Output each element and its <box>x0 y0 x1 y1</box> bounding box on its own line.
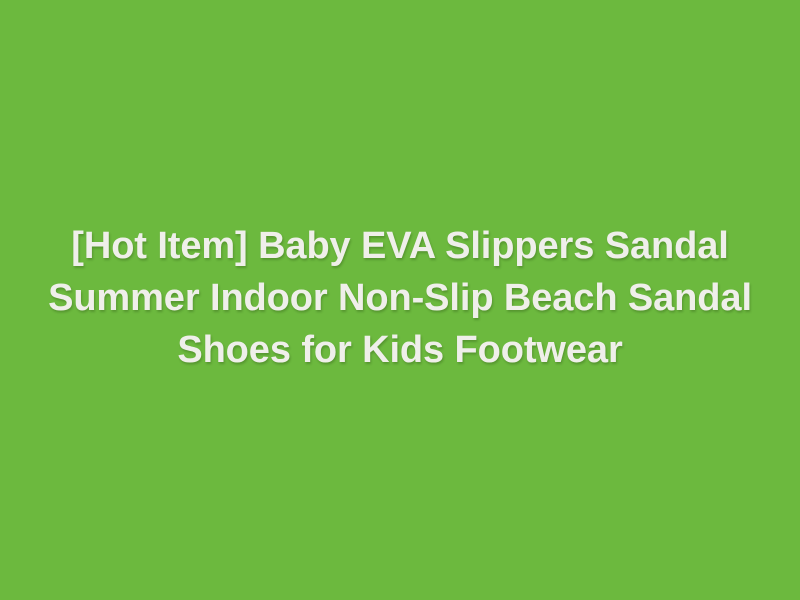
page-title-line-3: Shoes for Kids Footwear <box>20 324 780 376</box>
page-title: [Hot Item] Baby EVA Slippers Sandal Summ… <box>20 220 780 380</box>
page-title-line-2: Summer Indoor Non-Slip Beach Sandal <box>20 272 780 324</box>
product-title-card: [Hot Item] Baby EVA Slippers Sandal Summ… <box>0 0 800 600</box>
page-title-line-1: [Hot Item] Baby EVA Slippers Sandal <box>20 220 780 272</box>
